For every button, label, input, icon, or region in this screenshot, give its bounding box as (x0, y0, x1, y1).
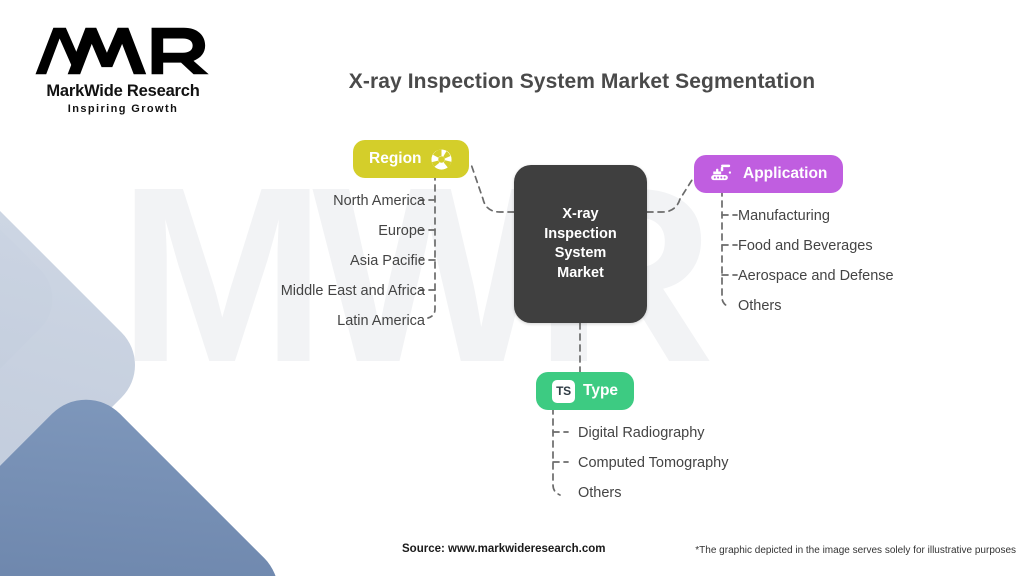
ts-chip-label: TS (552, 380, 575, 403)
leaf-item: Manufacturing (738, 207, 830, 225)
mwr-logo-icon (30, 26, 216, 76)
leaf-item: Asia Pacific (350, 252, 425, 270)
source-text: Source: www.markwideresearch.com (402, 543, 605, 555)
center-node-line-2: Inspection (544, 225, 617, 245)
leaf-item: Food and Beverages (738, 237, 873, 255)
leaf-item: Digital Radiography (578, 424, 705, 442)
infographic-canvas: MWR MarkWide Research Inspiring Growth X… (0, 0, 1024, 576)
leaf-item: Europe (378, 222, 425, 240)
ts-chip-icon: TS (552, 380, 575, 403)
disclaimer-text: *The graphic depicted in the image serve… (695, 545, 1016, 556)
branch-badge-application[interactable]: Application (694, 155, 843, 193)
page-title-text: X-ray Inspection System Market Segmentat… (209, 70, 815, 93)
leaf-item: Middle East and Africa (281, 282, 425, 300)
branch-badge-region[interactable]: Region (353, 140, 469, 178)
branch-label-application: Application (743, 165, 827, 183)
center-node-line-4: Market (544, 264, 617, 284)
leaf-item: Latin America (337, 312, 425, 330)
bulldozer-icon (710, 163, 735, 185)
leaf-item: Others (578, 484, 622, 502)
center-node-line-1: X-ray (544, 205, 617, 225)
center-node-line-3: System (544, 244, 617, 264)
leaf-item: Others (738, 297, 782, 315)
center-node: X-ray Inspection System Market (514, 165, 647, 323)
branch-badge-type[interactable]: TS Type (536, 372, 634, 410)
leaf-item: North America (333, 192, 425, 210)
branch-label-type: Type (583, 382, 618, 400)
brand-tagline: Inspiring Growth (30, 103, 216, 115)
leaf-item: Aerospace and Defense (738, 267, 894, 285)
globe-icon (430, 148, 453, 171)
wire-type-spine (553, 408, 560, 495)
page-title: X-ray Inspection System Market Segmentat… (0, 70, 1024, 94)
leaf-item: Computed Tomography (578, 454, 728, 472)
branch-label-region: Region (369, 150, 422, 168)
wire-application-spine (722, 190, 729, 307)
